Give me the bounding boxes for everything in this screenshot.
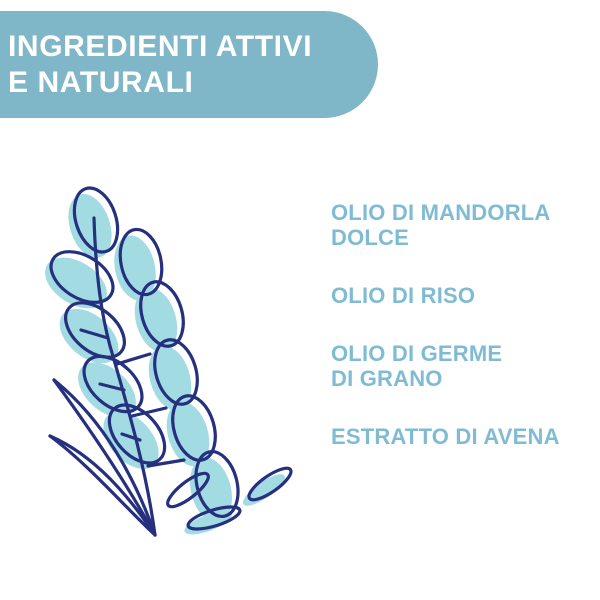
poster-canvas: INGREDIENTI ATTIVI E NATURALI [0, 0, 600, 600]
header-banner: INGREDIENTI ATTIVI E NATURALI [0, 11, 378, 118]
ingredient-list: OLIO DI MANDORLA DOLCE OLIO DI RISO OLIO… [331, 200, 596, 449]
ingredient-1-line-1: OLIO DI MANDORLA [331, 200, 596, 225]
wheat-stalk-illustration [18, 168, 318, 568]
wheat-svg [18, 168, 318, 568]
ingredient-4-line-1: ESTRATTO DI AVENA [331, 424, 596, 449]
grain-fill-l1 [36, 247, 116, 319]
grain-fills [36, 188, 289, 539]
ingredient-1-line-2: DOLCE [331, 225, 596, 250]
scatter-fill-2 [239, 469, 289, 511]
ingredient-item-3: OLIO DI GERME DI GRANO [331, 341, 596, 391]
ingredient-item-2: OLIO DI RISO [331, 283, 596, 308]
ingredient-item-4: ESTRATTO DI AVENA [331, 424, 596, 449]
ingredient-item-1: OLIO DI MANDORLA DOLCE [331, 200, 596, 250]
ingredient-3-line-2: DI GRANO [331, 366, 596, 391]
banner-title-line-2: E NATURALI [8, 65, 378, 101]
banner-title-line-1: INGREDIENTI ATTIVI [8, 29, 378, 65]
ingredient-3-line-1: OLIO DI GERME [331, 341, 596, 366]
ingredient-2-line-1: OLIO DI RISO [331, 283, 596, 308]
